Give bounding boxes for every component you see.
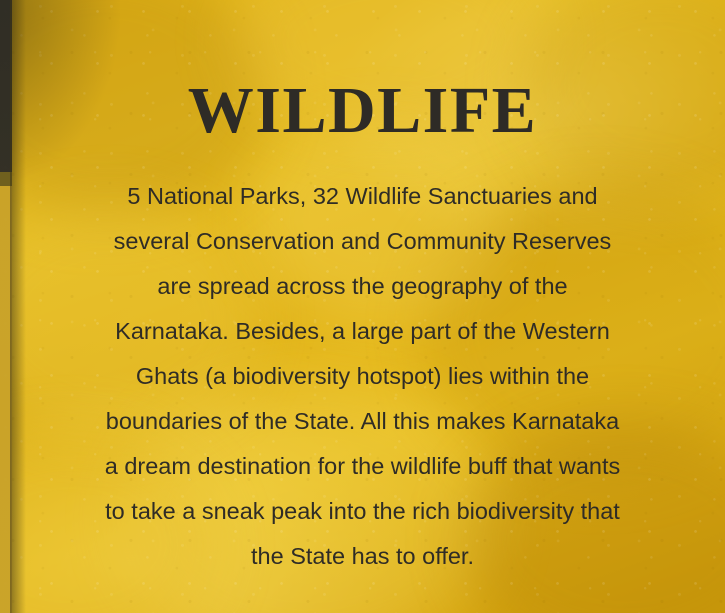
poster-content: WILDLIFE 5 National Parks, 32 Wildlife S… xyxy=(0,0,725,613)
poster-page: WILDLIFE 5 National Parks, 32 Wildlife S… xyxy=(0,0,725,613)
poster-body-text: 5 National Parks, 32 Wildlife Sanctuarie… xyxy=(58,144,668,579)
page-title: WILDLIFE xyxy=(188,0,537,144)
